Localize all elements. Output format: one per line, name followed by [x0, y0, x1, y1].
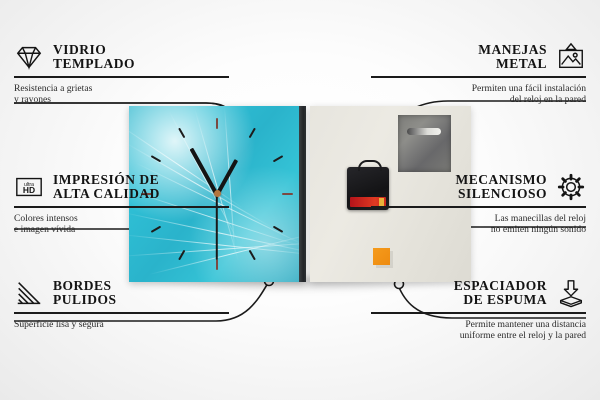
- callout-subtitle: Las manecillas del reloj no emiten ningú…: [371, 213, 586, 236]
- callout-title: MECANISMO SILENCIOSO: [456, 173, 548, 202]
- callout-title: BORDES PULIDOS: [53, 279, 117, 308]
- callout-subtitle: Permite mantener una distancia uniforme …: [371, 319, 586, 342]
- title-rule: [14, 206, 229, 208]
- callout-title: VIDRIO TEMPLADO: [53, 43, 135, 72]
- callout-subtitle: Superficie lisa y segura: [14, 319, 229, 331]
- callout-bordes-pulidos: BORDES PULIDOS Superficie lisa y segura: [14, 278, 229, 330]
- callout-title: MANEJAS METAL: [478, 43, 547, 72]
- gear-icon: [556, 172, 586, 202]
- title-rule: [371, 76, 586, 78]
- callout-subtitle: Resistencia a grietas y rayones: [14, 83, 229, 106]
- picture-frame-hanger-icon: [556, 42, 586, 72]
- callout-subtitle: Colores intensos e imagen vívida: [14, 213, 229, 236]
- callout-manejas-metal: MANEJAS METAL Permiten una fácil instala…: [371, 42, 586, 106]
- title-rule: [14, 312, 229, 314]
- callout-subtitle: Permiten una fácil instalación del reloj…: [371, 83, 586, 106]
- title-rule: [371, 206, 586, 208]
- title-rule: [371, 312, 586, 314]
- infographic-stage: VIDRIO TEMPLADO Resistencia a grietas y …: [0, 0, 600, 400]
- hanger-slot: [407, 128, 441, 135]
- foam-spacer-arrow-icon: [556, 278, 586, 308]
- clock-side-edge: [299, 106, 306, 282]
- ultra-hd-icon: ultra HD: [14, 172, 44, 202]
- callout-impresion-alta-calidad: ultra HD IMPRESIÓN DE ALTA CALIDAD Color…: [14, 172, 229, 236]
- title-rule: [14, 76, 229, 78]
- mechanism-hook: [358, 160, 382, 171]
- foam-spacer-pad: [373, 248, 390, 265]
- callout-mecanismo-silencioso: MECANISMO SILENCIOSO Las manecillas del …: [371, 172, 586, 236]
- diamond-icon: [14, 42, 44, 72]
- svg-text:HD: HD: [23, 185, 35, 195]
- polished-edge-icon: [14, 278, 44, 308]
- callout-espaciador-espuma: ESPACIADOR DE ESPUMA Permite mantener un…: [371, 278, 586, 342]
- callout-vidrio-templado: VIDRIO TEMPLADO Resistencia a grietas y …: [14, 42, 229, 106]
- callout-title: IMPRESIÓN DE ALTA CALIDAD: [53, 173, 160, 202]
- metal-hanger-plate: [398, 115, 451, 172]
- callout-title: ESPACIADOR DE ESPUMA: [454, 279, 547, 308]
